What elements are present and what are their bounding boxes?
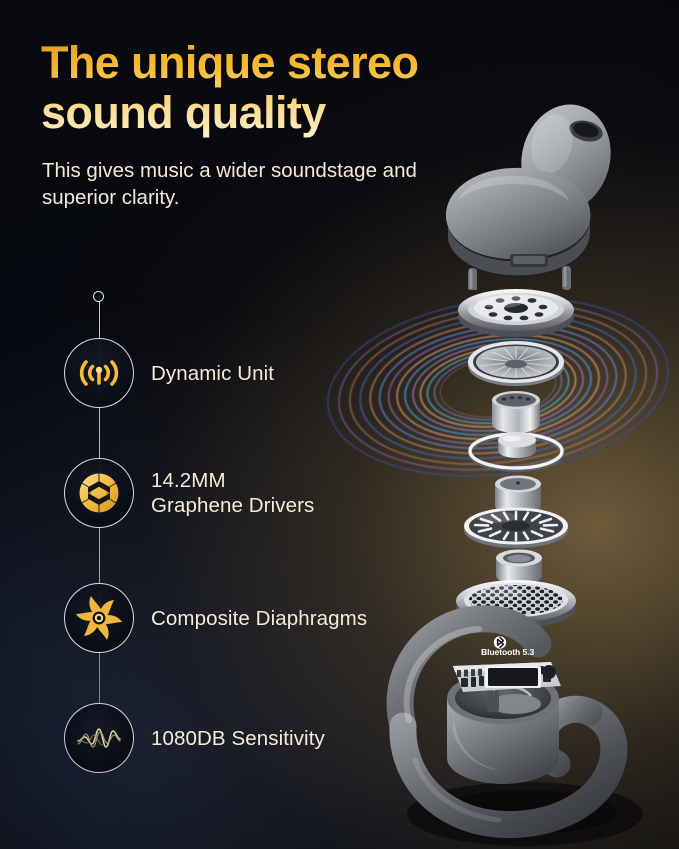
- feature-connector-node: [93, 291, 104, 302]
- feature-label: 1080DB Sensitivity: [151, 726, 325, 751]
- page-subtitle: This gives music a wider soundstage and …: [42, 157, 462, 211]
- diaphragm-disc: [466, 336, 566, 388]
- signal-waves-icon: [64, 338, 134, 408]
- radial-spoke-plate: [462, 500, 570, 550]
- page-title: The unique stereo sound quality: [41, 38, 511, 138]
- vortex-swirl-icon: [64, 583, 134, 653]
- magnet-ring: [468, 431, 564, 473]
- feature-item-dynamic-unit[interactable]: Dynamic Unit: [64, 337, 424, 409]
- voice-coil-cylinder: [490, 390, 542, 438]
- aperture-icon: [64, 458, 134, 528]
- pole-piece: [495, 431, 539, 463]
- feature-item-graphene-drivers[interactable]: 14.2MM Graphene Drivers: [64, 457, 424, 529]
- promo-image: Bluetooth 5.3 The unique stereo sound qu…: [0, 0, 679, 849]
- feature-label: 14.2MM Graphene Drivers: [151, 468, 314, 518]
- feature-label: Dynamic Unit: [151, 361, 274, 386]
- feature-label: Composite Diaphragms: [151, 606, 367, 631]
- perforated-grille-disc: [456, 283, 576, 339]
- waveform-icon: [64, 703, 134, 773]
- feature-item-sensitivity[interactable]: 1080DB Sensitivity: [64, 702, 424, 774]
- bluetooth-chip-label: Bluetooth 5.3: [481, 647, 534, 657]
- mesh-grille-disc: [454, 572, 578, 630]
- feature-item-composite-diaphragms[interactable]: Composite Diaphragms: [64, 582, 424, 654]
- coupler-ring: [492, 548, 546, 590]
- spacer-ring: [492, 474, 544, 520]
